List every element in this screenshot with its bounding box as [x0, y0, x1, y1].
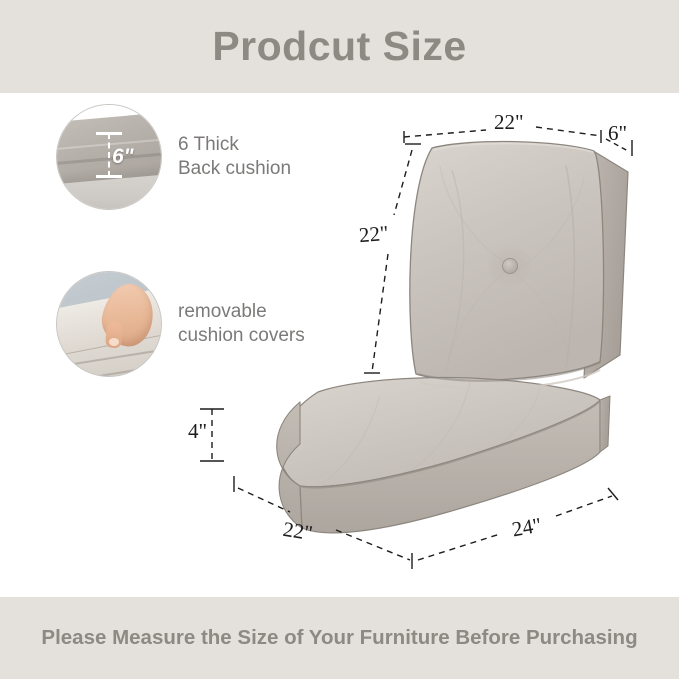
feature-callout-thickness: 6" 6 Thick Back cushion [56, 104, 291, 210]
footer-note: Please Measure the Size of Your Furnitur… [20, 624, 660, 652]
hand-zipper-photo-icon [56, 271, 162, 377]
dimension-seat-height: 4" [188, 419, 207, 444]
cushion-edge-photo-icon: 6" [56, 104, 162, 210]
feature-label-thickness: 6 Thick Back cushion [178, 133, 291, 182]
product-size-infographic: Prodcut Size [0, 0, 679, 679]
feature-label-removable: removable cushion covers [178, 300, 305, 349]
dimension-back-height: 22" [358, 221, 390, 248]
dimension-back-width: 22" [494, 110, 524, 135]
feature-callout-removable: removable cushion covers [56, 271, 305, 377]
dimension-seat-depth: 22" [281, 517, 314, 546]
footer-band: Please Measure the Size of Your Furnitur… [0, 597, 679, 679]
dimension-seat-width: 24" [510, 513, 543, 543]
page-title: Prodcut Size [212, 26, 466, 67]
header-band: Prodcut Size [0, 0, 679, 93]
dimension-back-depth: 6" [608, 121, 627, 146]
photo-thickness-label: 6" [112, 145, 134, 169]
